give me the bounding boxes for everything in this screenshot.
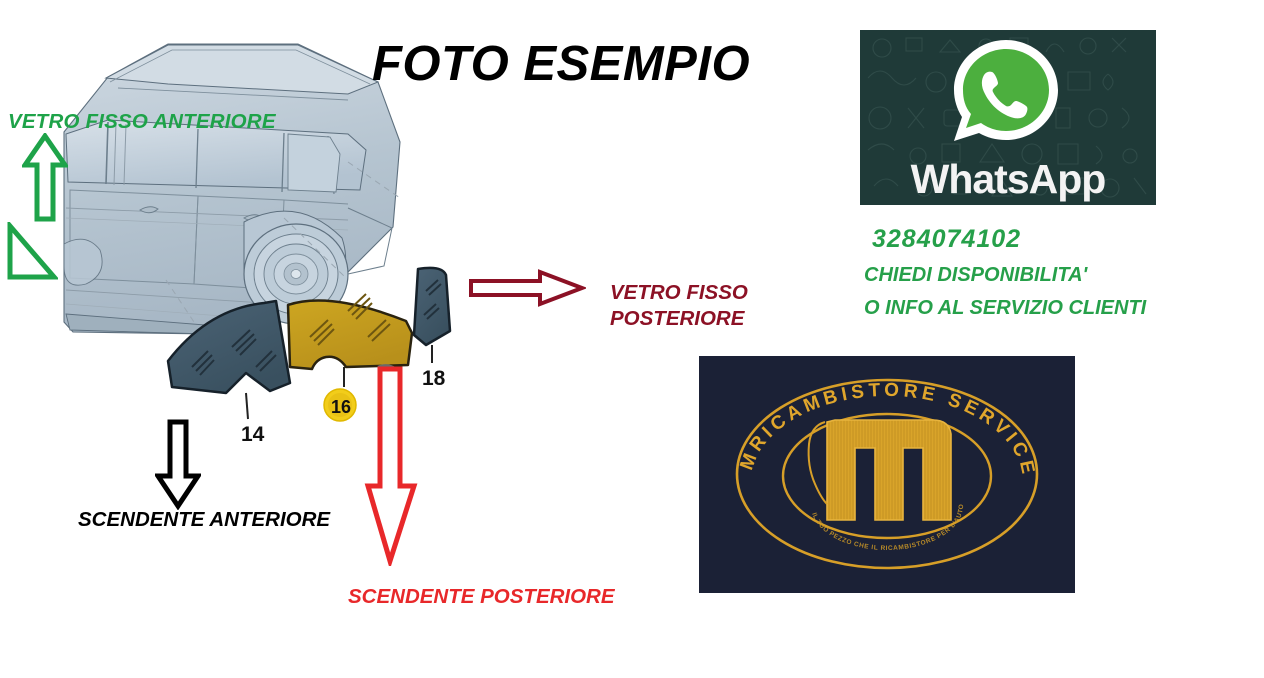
part-16-badge: 16 <box>324 389 356 421</box>
logo-monogram <box>809 420 951 520</box>
contact-line-availability: CHIEDI DISPONIBILITA' <box>864 264 1087 287</box>
whatsapp-icon <box>938 36 1074 158</box>
page-title: FOTO ESEMPIO <box>372 36 802 92</box>
green-triangle-icon <box>6 222 58 282</box>
svg-text:18: 18 <box>422 367 446 390</box>
contact-line-customer-service: O INFO AL SERVIZIO CLIENTI <box>864 297 1146 320</box>
label-vetro-fisso-anteriore: VETRO FISSO ANTERIORE <box>8 110 276 134</box>
label-vetro-fisso-posteriore-line2: POSTERIORE <box>610 306 810 332</box>
screenshot-canvas: FOTO ESEMPIO VETRO FISSO ANTERIORE <box>0 0 1264 678</box>
darkred-right-arrow-icon <box>468 268 586 308</box>
black-down-arrow-icon <box>155 418 201 510</box>
whatsapp-wordmark: WhatsApp <box>860 156 1156 203</box>
label-vetro-fisso-posteriore-line1: VETRO FISSO <box>610 280 810 306</box>
svg-text:16: 16 <box>331 397 351 417</box>
label-scendente-posteriore: SCENDENTE POSTERIORE <box>348 585 615 609</box>
whatsapp-banner: WhatsApp <box>860 30 1156 205</box>
label-scendente-anteriore: SCENDENTE ANTERIORE <box>78 508 330 532</box>
svg-text:14: 14 <box>241 423 265 446</box>
green-up-arrow-icon <box>22 133 68 223</box>
label-vetro-fisso-posteriore: VETRO FISSO POSTERIORE <box>610 280 810 332</box>
contact-phone-number[interactable]: 3284074102 <box>872 225 1021 254</box>
company-logo: MRICAMBISTORE SERVICE DI RUSSO MARCO IL … <box>699 356 1075 593</box>
red-down-arrow-icon <box>362 366 420 566</box>
